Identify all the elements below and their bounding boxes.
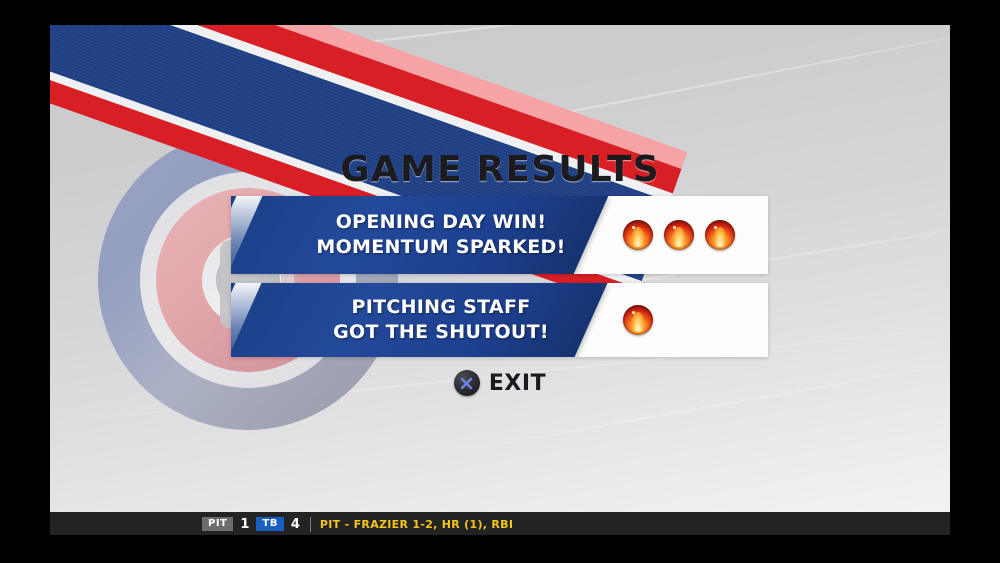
result-card[interactable]: PITCHING STAFF GOT THE SHUTOUT! [231, 283, 768, 357]
home-team-score: 4 [291, 517, 300, 532]
home-team-chip: TB [256, 517, 283, 531]
flame-rating [623, 196, 735, 274]
card-banner-shape [231, 196, 608, 274]
game-viewport: GAME RESULTS OPENING DAY WIN! MOMENTUM S… [50, 25, 950, 535]
away-team-score: 1 [240, 517, 249, 532]
flame-spark [632, 311, 635, 314]
flame-icon [623, 220, 653, 250]
exit-button[interactable]: EXIT [50, 370, 950, 396]
card-banner-shape [231, 283, 607, 357]
ticker-divider [310, 517, 311, 532]
page-title: GAME RESULTS [50, 149, 950, 190]
flame-icon [623, 305, 653, 335]
banner-sheen [231, 196, 262, 274]
away-team-chip: PIT [202, 517, 233, 531]
score-ticker: PIT 1 TB 4 PIT - FRAZIER 1-2, HR (1), RB… [50, 512, 950, 535]
exit-label: EXIT [489, 371, 546, 396]
cross-button-icon[interactable] [454, 370, 480, 396]
flame-icon [664, 220, 694, 250]
flame-icon [705, 220, 735, 250]
flame-spark [673, 226, 676, 229]
banner-sheen [231, 283, 261, 357]
ticker-scoreboard: PIT 1 TB 4 [50, 517, 300, 532]
result-card[interactable]: OPENING DAY WIN! MOMENTUM SPARKED! [231, 196, 768, 274]
flame-spark [632, 226, 635, 229]
ticker-headline: PIT - FRAZIER 1-2, HR (1), RBI [320, 518, 513, 531]
flame-spark [714, 226, 717, 229]
game-screen: GAME RESULTS OPENING DAY WIN! MOMENTUM S… [0, 0, 1000, 563]
flame-rating [623, 283, 653, 357]
